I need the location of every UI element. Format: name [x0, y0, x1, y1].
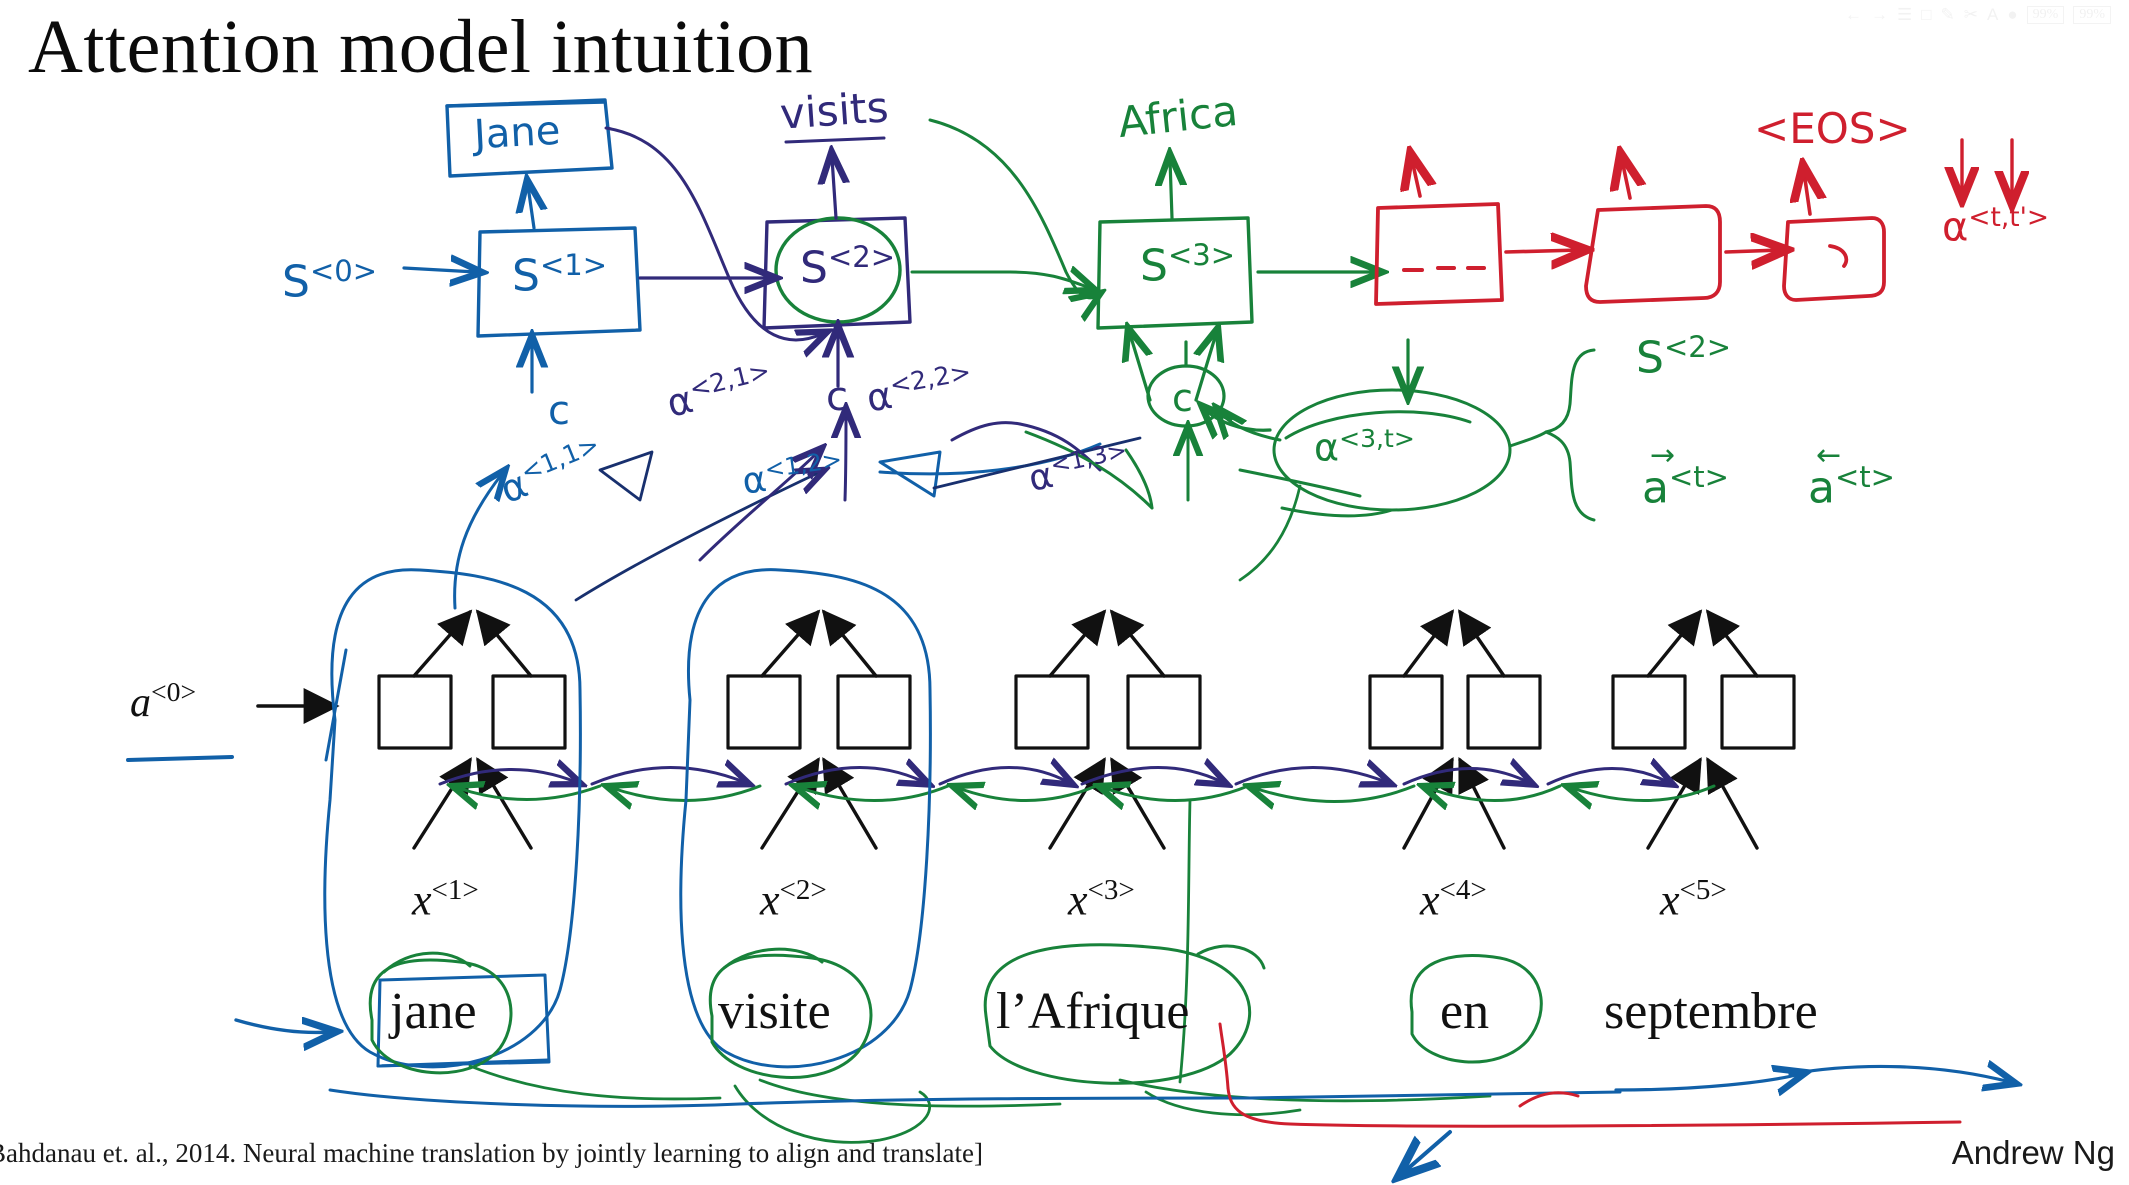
x1-letter: x [412, 876, 432, 925]
fwd-a-letter: a [1642, 463, 1669, 514]
s3-letter: S [1140, 241, 1168, 292]
source-word-jane: jane [390, 982, 477, 1041]
s2-sup: <2> [828, 240, 895, 274]
context-label-c2: c [826, 374, 848, 420]
a0-letter: a [130, 680, 151, 726]
attention-label-alpha-3-t: α<3,t> [1314, 424, 1415, 470]
encoder-initial-activation: a<0> [130, 676, 196, 727]
slide-canvas: ← → ☰ □ ✎ ✂ A ● 99% 99% Attention model … [0, 0, 2129, 1185]
s0-sup: <0> [310, 254, 377, 288]
source-word-septembre: septembre [1604, 982, 1818, 1041]
context-label-c1: c [548, 388, 570, 434]
x4-letter: x [1420, 876, 1440, 925]
s0-letter: S [282, 257, 310, 308]
x2-letter: x [760, 876, 780, 925]
fwd-a-sup: <t> [1669, 460, 1729, 494]
x5-sup: <5> [1680, 874, 1727, 906]
x1-sup: <1> [432, 874, 479, 906]
source-word-visite: visite [718, 982, 831, 1041]
right-note-forward-activation: a<t> [1642, 460, 1729, 514]
x5-letter: x [1660, 876, 1680, 925]
decoder-cell-s2-label: S<2> [800, 240, 895, 294]
right-note-state-sup: <2> [1664, 330, 1731, 364]
decoder-initial-state-label: S<0> [282, 254, 377, 308]
decoder-cell-s3-label: S<3> [1140, 238, 1235, 292]
presenter-name: Andrew Ng [1952, 1134, 2115, 1172]
s1-sup: <1> [540, 248, 607, 282]
decoder-output-jane: Jane [473, 108, 562, 158]
x3-letter: x [1068, 876, 1088, 925]
encoder-input-label-x1: x<1> [412, 874, 479, 926]
encoder-input-label-x2: x<2> [760, 874, 827, 926]
decoder-output-eos: <EOS> [1754, 104, 1911, 153]
alpha-t-tprime-sup: <t,t'> [1968, 202, 2049, 233]
s1-letter: S [512, 251, 540, 302]
s2-letter: S [800, 243, 828, 294]
right-note-backward-activation: a<t> [1808, 460, 1895, 514]
citation-text: Bahdanau et. al., 2014. Neural machine t… [0, 1138, 983, 1169]
x3-sup: <3> [1088, 874, 1135, 906]
bwd-a-letter: a [1808, 463, 1835, 514]
right-note-state: S<2> [1636, 330, 1731, 384]
alpha-t-tprime-symbol: α [1942, 204, 1968, 250]
alpha-3-t-symbol: α [1314, 426, 1339, 470]
a0-sup: <0> [151, 676, 196, 707]
decoder-output-visits: visits [778, 82, 890, 138]
decoder-cell-s1-label: S<1> [512, 248, 607, 302]
source-word-lafrique: l’Afrique [996, 982, 1189, 1041]
encoder-input-label-x3: x<3> [1068, 874, 1135, 926]
source-word-en: en [1440, 982, 1489, 1041]
right-note-state-letter: S [1636, 333, 1664, 384]
x2-sup: <2> [780, 874, 827, 906]
alpha-3-t-sup: <3,t> [1339, 424, 1415, 453]
context-label-c3: c [1172, 376, 1193, 420]
encoder-input-label-x5: x<5> [1660, 874, 1727, 926]
s3-sup: <3> [1168, 238, 1235, 272]
encoder-input-label-x4: x<4> [1420, 874, 1487, 926]
attention-label-alpha-t-tprime: α<t,t'> [1942, 202, 2049, 250]
bwd-a-sup: <t> [1835, 460, 1895, 494]
x4-sup: <4> [1440, 874, 1487, 906]
